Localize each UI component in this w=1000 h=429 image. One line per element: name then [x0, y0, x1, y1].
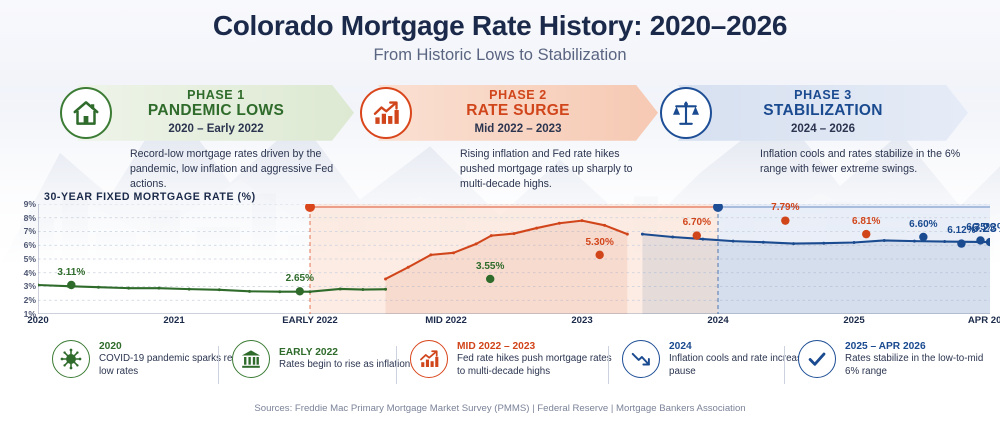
phase-2-name: RATE SURGE — [466, 102, 569, 121]
point-label-6.81: 6.81% — [852, 216, 880, 227]
x-tick-mid-2022: MID 2022 — [425, 315, 467, 326]
chart-title: 30-YEAR FIXED MORTGAGE RATE (%) — [44, 191, 256, 203]
phase-2-ribbon: PHASE 2 RATE SURGE Mid 2022 – 2023 — [378, 85, 658, 141]
y-tick-4: 4% — [24, 268, 36, 278]
virus-icon — [52, 340, 90, 378]
phase-card-1: PHASE 1 PANDEMIC LOWS 2020 – Early 2022 … — [52, 71, 352, 189]
arrow-down-trend-icon — [622, 340, 660, 378]
phase-3-name: STABILIZATION — [763, 102, 883, 121]
x-tick-apr-2026: APR 2026 — [968, 315, 1000, 326]
phase-1-range: 2020 – Early 2022 — [168, 121, 263, 138]
x-tick-2020: 2020 — [27, 315, 48, 326]
y-tick-7: 7% — [24, 226, 36, 236]
chart-plot-area: 3.11%2.65%3.55%5.30%6.70%7.79%6.81%6.60%… — [38, 204, 990, 314]
phase-3-description: Inflation cools and rates stabilize in t… — [760, 147, 972, 177]
phase-3-label: PHASE 3 — [794, 88, 852, 103]
point-label-6.70: 6.70% — [683, 217, 711, 228]
x-tick-2024: 2024 — [707, 315, 728, 326]
phase-1-description: Record-low mortgage rates driven by the … — [130, 147, 352, 192]
point-label-3.11: 3.11% — [57, 267, 85, 278]
legend-divider-1 — [218, 346, 219, 384]
bar-chart-rising-icon — [360, 87, 412, 139]
sources-note: Sources: Freddie Mac Primary Mortgage Ma… — [0, 403, 1000, 414]
y-tick-2: 2% — [24, 295, 36, 305]
legend-item-1: 2020COVID-19 pandemic sparks record-low … — [52, 340, 259, 379]
point-label-3.55: 3.55% — [476, 261, 504, 272]
bank-building-icon — [232, 340, 270, 378]
phase-2-label: PHASE 2 — [489, 88, 547, 103]
chart-svg — [38, 204, 990, 314]
point-label-7.79: 7.79% — [771, 202, 799, 213]
phase-1-name: PANDEMIC LOWS — [148, 102, 284, 121]
point-label-6.60: 6.60% — [909, 219, 937, 230]
phase-card-3: PHASE 3 STABILIZATION 2024 – 2026 Inflat… — [652, 71, 972, 189]
y-axis-labels: 1%2%3%4%5%6%7%8%9% — [10, 204, 36, 314]
legend-divider-3 — [608, 346, 609, 384]
x-axis-labels: 20202021EARLY 2022MID 2022202320242025AP… — [38, 315, 990, 329]
legend-item-text: Fed rate hikes push mortgage rates to mu… — [457, 353, 617, 379]
phase-banner-group: PHASE 1 PANDEMIC LOWS 2020 – Early 2022 … — [0, 71, 1000, 189]
point-label-5.30: 5.30% — [585, 237, 613, 248]
scales-balance-icon — [660, 87, 712, 139]
legend-item-2: EARLY 2022Rates begin to rise as inflati… — [232, 340, 439, 378]
legend-divider-4 — [784, 346, 785, 384]
bar-chart-rising-icon — [410, 340, 448, 378]
page-subtitle: From Historic Lows to Stabilization — [0, 42, 1000, 65]
legend-item-title: MID 2022 – 2023 — [457, 340, 617, 353]
y-tick-3: 3% — [24, 281, 36, 291]
rate-history-chart: 30-YEAR FIXED MORTGAGE RATE (%) 1%2%3%4%… — [0, 191, 1000, 323]
x-tick-early-2022: EARLY 2022 — [282, 315, 337, 326]
timeline-legend: 2020COVID-19 pandemic sparks record-low … — [0, 340, 1000, 398]
x-tick-2021: 2021 — [163, 315, 184, 326]
legend-item-3: MID 2022 – 2023Fed rate hikes push mortg… — [410, 340, 617, 379]
phase-1-label: PHASE 1 — [187, 88, 245, 103]
phase-card-2: PHASE 2 RATE SURGE Mid 2022 – 2023 Risin… — [352, 71, 652, 189]
legend-divider-2 — [396, 346, 397, 384]
x-tick-2023: 2023 — [571, 315, 592, 326]
check-icon — [798, 340, 836, 378]
phase-2-description: Rising inflation and Fed rate hikes push… — [460, 147, 652, 192]
legend-item-5: 2025 – APR 2026Rates stabilize in the lo… — [798, 340, 1000, 379]
point-label-6.23: 6.23% — [972, 220, 1000, 235]
x-tick-2025: 2025 — [843, 315, 864, 326]
legend-item-title: 2025 – APR 2026 — [845, 340, 1000, 353]
legend-item-text: Rates stabilize in the low-to-mid 6% ran… — [845, 353, 1000, 379]
y-tick-8: 8% — [24, 213, 36, 223]
y-tick-5: 5% — [24, 254, 36, 264]
phase-2-range: Mid 2022 – 2023 — [475, 121, 562, 138]
y-tick-9: 9% — [24, 199, 36, 209]
point-label-2.65: 2.65% — [286, 273, 314, 284]
phase-1-ribbon: PHASE 1 PANDEMIC LOWS 2020 – Early 2022 — [78, 85, 354, 141]
phase-3-range: 2024 – 2026 — [791, 121, 855, 138]
page-title: Colorado Mortgage Rate History: 2020–202… — [0, 0, 1000, 42]
house-icon — [60, 87, 112, 139]
phase-3-ribbon: PHASE 3 STABILIZATION 2024 – 2026 — [678, 85, 968, 141]
y-tick-6: 6% — [24, 240, 36, 250]
